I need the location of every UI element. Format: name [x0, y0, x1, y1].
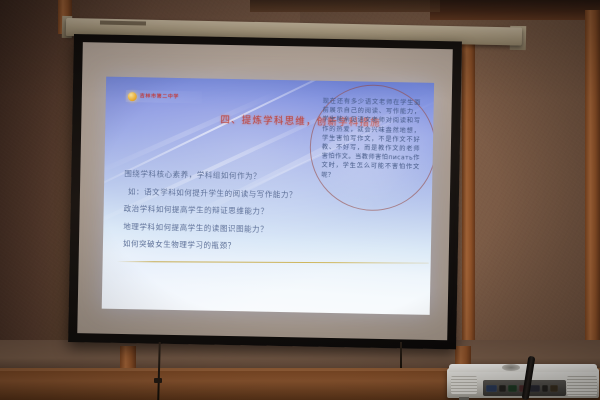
video-port[interactable]: [508, 385, 517, 392]
cable-clip: [154, 378, 162, 383]
vga-port[interactable]: [486, 385, 497, 392]
projection-screen-surface: 吉林市第二中学 四、提炼学科思维，创新学科措施 围绕学科核心素养，学科组如何作为…: [77, 42, 453, 340]
wood-trim-far-right: [585, 10, 600, 350]
serial-port[interactable]: [550, 385, 558, 392]
slide-logo: 吉林市第二中学: [126, 90, 202, 103]
ceiling-band-center: [250, 0, 440, 12]
projected-slide: 吉林市第二中学 四、提炼学科思维，创新学科措施 围绕学科核心素养，学科组如何作为…: [102, 77, 434, 315]
slide-body: 围绕学科核心素养，学科组如何作为？ 如：语文学科如何提升学生的阅读与写作能力？ …: [123, 165, 330, 256]
power-port[interactable]: [542, 385, 548, 392]
slide-note-text: 现在还有多少语文老师在学生面前展示自己的阅读、写作能力，学生能亲见语文老师对阅读…: [321, 97, 421, 182]
school-name-label: 吉林市第二中学: [140, 93, 179, 101]
projector-vent-left: [451, 376, 477, 394]
hanging-cable-right: [400, 342, 402, 368]
wood-trim-right: [462, 34, 475, 346]
usb-port[interactable]: [499, 385, 506, 392]
projector-lens-icon: [502, 364, 520, 371]
projection-screen-frame: 吉林市第二中学 四、提炼学科思维，创新学科措施 围绕学科核心素养，学科组如何作为…: [68, 34, 462, 349]
projector-vent-right: [567, 376, 597, 396]
classroom-scene: 吉林市第二中学 四、提炼学科思维，创新学科措施 围绕学科核心素养，学科组如何作为…: [0, 0, 600, 400]
school-emblem-icon: [128, 92, 137, 101]
projector-top-panel: [449, 364, 597, 372]
ceiling-band-right: [430, 0, 600, 20]
